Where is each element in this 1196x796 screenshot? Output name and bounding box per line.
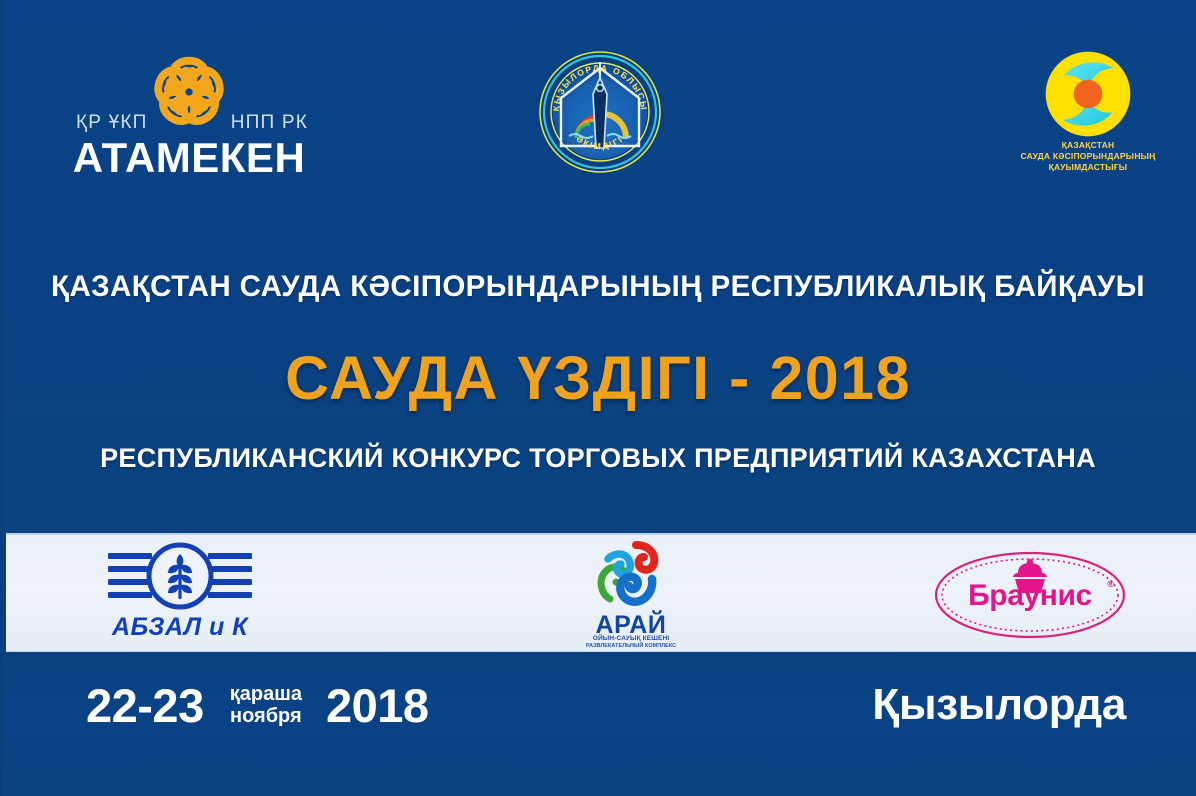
kazakhstan-trade-association-logo: ҚАЗАҚСТАН САУДА КӘСІПОРЫНДАРЫНЫҢ ҚАУЫМДА…: [1004, 48, 1172, 183]
atameken-abbr-ru: НПП РК: [231, 112, 308, 134]
arai-subtitle-ru: РАЗВЛЕКАТЕЛЬНЫЙ КОМПЛЕКС: [545, 643, 717, 649]
event-title: САУДА ҮЗДІГІ - 2018: [0, 343, 1196, 413]
poster-footer: 22-23 қараша ноября 2018 Қызылорда: [0, 652, 1196, 796]
braunis-registered-mark: ®: [1107, 579, 1114, 589]
event-poster: ҚР ҰКП НПП РК АТАМЕКЕН: [0, 0, 1196, 796]
headline-kazakh: ҚАЗАҚСТАН САУДА КӘСІПОРЫНДАРЫНЫҢ РЕСПУБЛ…: [0, 270, 1196, 304]
kta-caption-line2: САУДА КӘСІПОРЫНДАРЫНЫҢ: [1004, 151, 1172, 162]
arai-subtitle-kk: ОЙЫН-САУЫҚ КЕШЕНІ: [545, 635, 717, 642]
atameken-abbr-kk: ҚР ҰКП: [76, 112, 148, 134]
wheat-in-circle-icon: [104, 541, 256, 613]
atameken-logo: ҚР ҰКП НПП РК АТАМЕКЕН: [64, 44, 314, 184]
kta-caption: ҚАЗАҚСТАН САУДА КӘСІПОРЫНДАРЫНЫҢ ҚАУЫМДА…: [1004, 140, 1172, 173]
atameken-wordmark: АТАМЕКЕН: [73, 134, 306, 182]
kta-caption-line3: ҚАУЫМДАСТЫҒЫ: [1004, 162, 1172, 173]
event-year: 2018: [326, 678, 429, 733]
logo-row: ҚР ҰКП НПП РК АТАМЕКЕН: [0, 0, 1196, 200]
event-days: 22-23: [86, 678, 204, 733]
kyzylorda-oblast-emblem: ҚЫЗЫЛОРДА ОБЛЫСЫ ӘКІМДІГІ: [536, 48, 664, 176]
sponsor-band: АБЗАЛ и К АРАЙ ОЙЫН-САУЫҚ КЕШЕНІ РАЗВЛЕК…: [5, 533, 1196, 652]
kazakh-ornament-icon: [143, 46, 235, 138]
event-month-ru: ноября: [230, 705, 302, 727]
left-edge-seam: [0, 0, 6, 796]
event-city: Қызылорда: [872, 674, 1126, 736]
event-date: 22-23 қараша ноября 2018: [86, 674, 429, 736]
event-month-kk: қараша: [230, 683, 302, 705]
braunis-wordmark: Браунис: [930, 579, 1130, 613]
arai-logo: АРАЙ ОЙЫН-САУЫҚ КЕШЕНІ РАЗВЛЕКАТЕЛЬНЫЙ К…: [545, 535, 717, 654]
abzal-wordmark: АБЗАЛ и К: [65, 613, 295, 642]
braunis-logo: Браунис ®: [930, 535, 1130, 654]
abzal-i-k-logo: АБЗАЛ и К: [65, 535, 295, 654]
kta-circle-icon: [1042, 48, 1134, 140]
event-month: қараша ноября: [230, 683, 302, 727]
spiral-swirl-icon: [592, 539, 670, 611]
headline-russian: РЕСПУБЛИКАНСКИЙ КОНКУРС ТОРГОВЫХ ПРЕДПРИ…: [0, 443, 1196, 474]
kta-caption-line1: ҚАЗАҚСТАН: [1004, 140, 1172, 151]
